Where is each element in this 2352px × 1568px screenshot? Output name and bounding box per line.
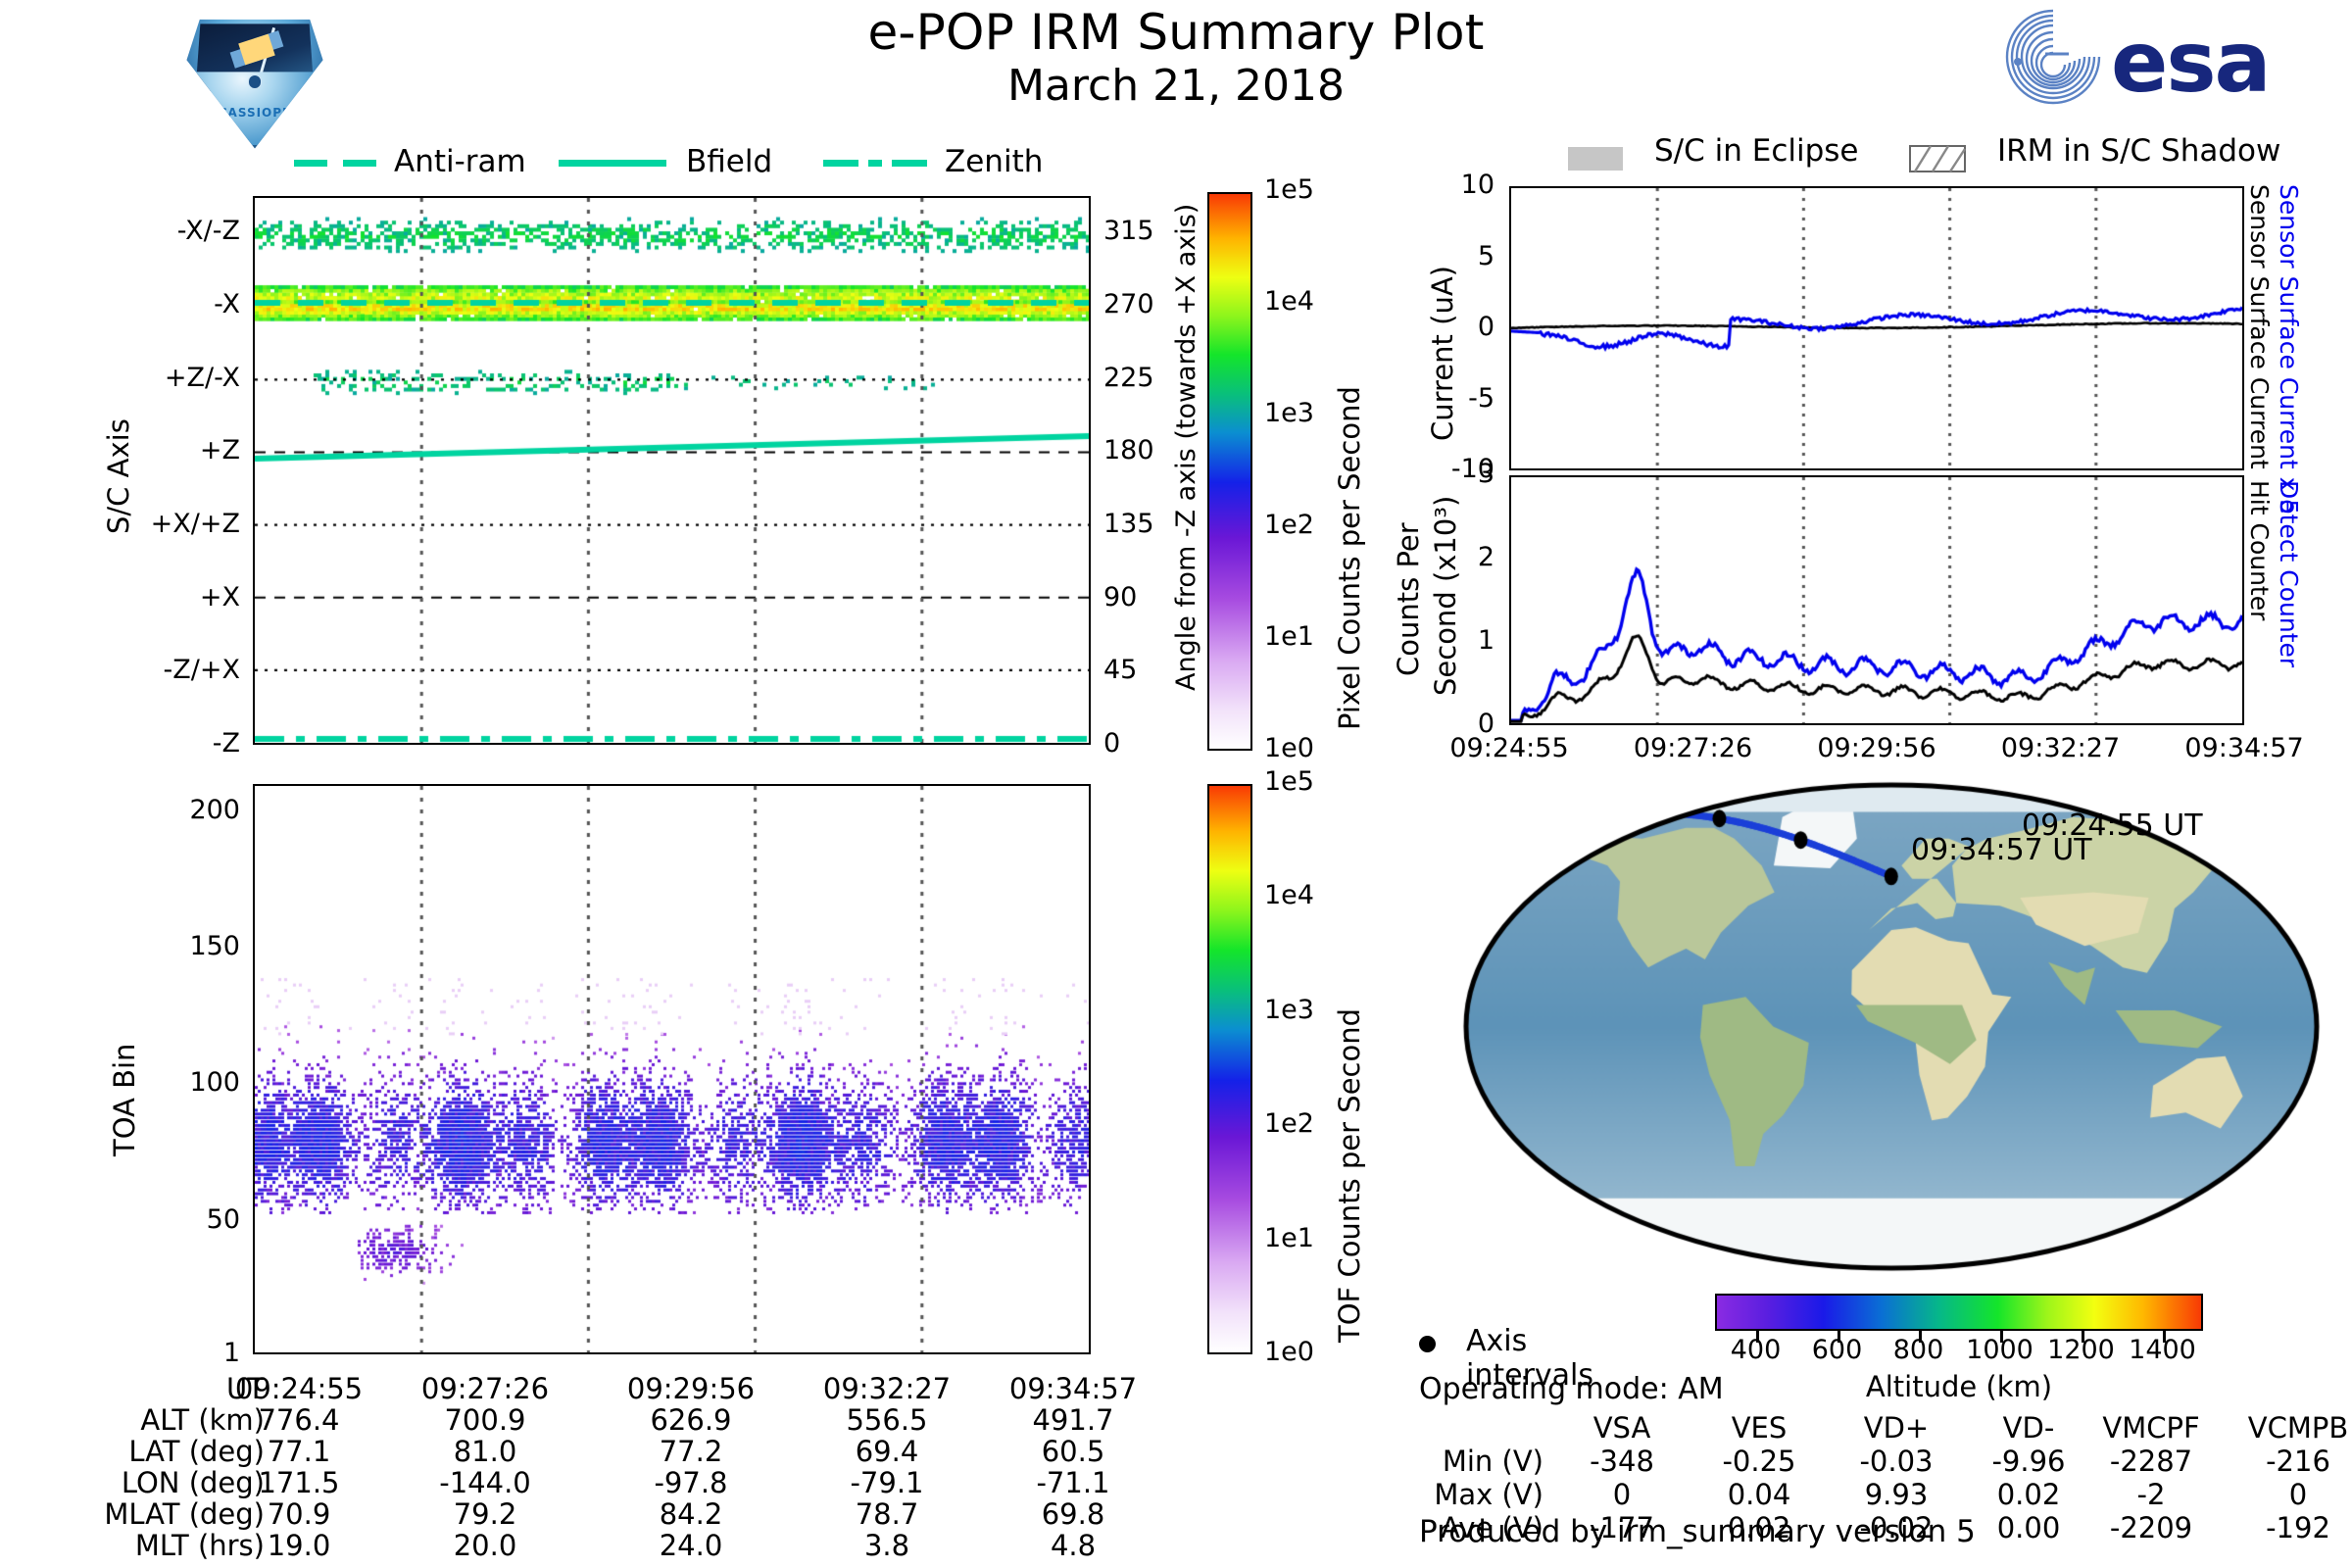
pixel-cbar-tick-5: 1e0 (1264, 733, 1314, 763)
alt-cbar-tickmark-0 (1756, 1331, 1759, 1343)
counts-ytick-0: 3 (1411, 459, 1494, 489)
angle-right-tick-5: 90 (1103, 582, 1182, 612)
counts-xtick-2: 09:29:56 (1788, 733, 1965, 763)
ephemeris-cell: 79.2 (382, 1497, 588, 1531)
legend-zenith-label: Zenith (945, 144, 1043, 179)
counts-right-label-black: Hit Counter (2245, 480, 2274, 620)
altitude-colorbar (1715, 1294, 2203, 1331)
operating-mode-label: Operating mode: AM (1419, 1372, 1724, 1406)
ephemeris-cell: 24.0 (588, 1529, 794, 1562)
legend-zenith-swatch (823, 160, 858, 167)
alt-cbar-tickmark-5 (2163, 1331, 2166, 1343)
ephemeris-cell: 70.9 (196, 1497, 402, 1531)
angle-ytick-2: +Z/-X (59, 363, 240, 393)
current-canvas (1511, 188, 2242, 468)
legend-zenith-swatch3 (892, 160, 927, 167)
page-title: e-POP IRM Summary Plot (0, 4, 2352, 61)
counts-xtick-0: 09:24:55 (1421, 733, 1597, 763)
pixel-counts-colorbar (1207, 192, 1252, 751)
voltage-cell: -2209 (2087, 1511, 2215, 1544)
voltage-cell: 0.02 (1965, 1478, 2092, 1511)
angle-right-tick-4: 135 (1103, 509, 1182, 539)
voltage-cell: -2287 (2087, 1445, 2215, 1478)
ephemeris-cell: 3.8 (784, 1529, 990, 1562)
voltage-cell: -216 (2234, 1445, 2352, 1478)
angle-right-tick-0: 315 (1103, 216, 1182, 246)
map-end-label: 09:34:57 UT (1911, 833, 2092, 867)
current-ytick-3: -5 (1392, 383, 1494, 414)
voltage-cell: -9.96 (1965, 1445, 2092, 1478)
counts-xtick-4: 09:34:57 (2156, 733, 2332, 763)
legend-antiram-label: Anti-ram (394, 144, 526, 179)
ephemeris-cell: 77.2 (588, 1435, 794, 1468)
legend-shadow-swatch (1909, 145, 1966, 172)
current-right-label-blue: Sensor Surface Current x 5 (2275, 184, 2303, 514)
tof-counts-colorbar-label: TOF Counts per Second (1333, 1008, 1366, 1343)
ephemeris-cell: -79.1 (784, 1466, 990, 1499)
legend-bfield-label: Bfield (686, 144, 772, 179)
ephemeris-cell: -97.8 (588, 1466, 794, 1499)
ephemeris-cell: 60.5 (970, 1435, 1176, 1468)
esa-logo: esa (2001, 8, 2327, 106)
pixel-cbar-tick-0: 1e5 (1264, 174, 1314, 205)
counts-panel-ylabel-line2: Second (x10³) (1429, 496, 1462, 696)
angle-ytick-1: -X (59, 289, 240, 319)
ephemeris-cell: 4.8 (970, 1529, 1176, 1562)
toa-ytick-4: 1 (98, 1338, 240, 1368)
current-ytick-2: 0 (1392, 312, 1494, 342)
counts-canvas (1511, 477, 2242, 723)
esa-swirl-icon (2001, 8, 2107, 106)
legend-shadow-label: IRM in S/C Shadow (1997, 133, 2280, 169)
angle-ytick-0: -X/-Z (59, 216, 240, 246)
ephemeris-cell: 20.0 (382, 1529, 588, 1562)
patch-label: CASSIOPE (184, 106, 325, 120)
legend-bfield-swatch (559, 160, 666, 167)
voltage-cell: -2 (2087, 1478, 2215, 1511)
alt-cbar-tickmark-1 (1837, 1331, 1840, 1343)
voltage-column-header: VCMPB (2234, 1411, 2352, 1445)
ephemeris-cell: 69.4 (784, 1435, 990, 1468)
alt-cbar-tickmark-3 (2000, 1331, 2003, 1343)
toa-spectrogram-canvas (255, 786, 1089, 1352)
voltage-cell: 0 (1558, 1478, 1686, 1511)
voltage-cell: 0.04 (1695, 1478, 1823, 1511)
angle-spectrogram-canvas (255, 198, 1089, 743)
voltage-column-header: VD+ (1833, 1411, 1960, 1445)
counts-xtick-3: 09:32:27 (1973, 733, 2149, 763)
altitude-colorbar-label: Altitude (km) (1715, 1370, 2203, 1403)
alt-cbar-tickmark-4 (2082, 1331, 2084, 1343)
voltage-cell: 0.00 (1965, 1511, 2092, 1544)
legend-zenith-swatch2 (868, 160, 882, 167)
current-panel-ylabel: Current (uA) (1426, 266, 1459, 441)
counts-xtick-1: 09:27:26 (1605, 733, 1782, 763)
angle-ytick-6: -Z/+X (59, 655, 240, 685)
current-plot[interactable] (1509, 186, 2244, 470)
ephemeris-cell: 09:32:27 (784, 1372, 990, 1405)
toa-ytick-0: 200 (98, 795, 240, 825)
angle-ytick-5: +X (59, 582, 240, 612)
ephemeris-cell: 09:34:57 (970, 1372, 1176, 1405)
footer-produced-by: Produced by irm_summary version 5 (1419, 1514, 1976, 1549)
page-subtitle: March 21, 2018 (0, 61, 2352, 111)
current-ytick-1: 5 (1392, 241, 1494, 271)
esa-wordmark: esa (2111, 14, 2270, 112)
voltage-cell: -348 (1558, 1445, 1686, 1478)
current-right-label-black: Sensor Surface Current (2245, 184, 2274, 469)
ephemeris-cell: 19.0 (196, 1529, 402, 1562)
toa-spectrogram-plot[interactable] (253, 784, 1091, 1354)
toa-ytick-1: 150 (98, 931, 240, 961)
ephemeris-cell: 776.4 (196, 1403, 402, 1437)
current-ytick-0: 10 (1392, 170, 1494, 200)
voltage-column-header: VES (1695, 1411, 1823, 1445)
counts-ytick-2: 1 (1411, 625, 1494, 656)
alt-cbar-tickmark-2 (1919, 1331, 1922, 1343)
voltage-row-label: Max (V) (1411, 1478, 1543, 1511)
tof-cbar-tick-2: 1e3 (1264, 995, 1314, 1025)
voltage-column-header: VD- (1965, 1411, 2092, 1445)
tof-cbar-tick-1: 1e4 (1264, 880, 1314, 910)
tof-cbar-tick-5: 1e0 (1264, 1337, 1314, 1367)
ephemeris-cell: 171.5 (196, 1466, 402, 1499)
ephemeris-cell: 69.8 (970, 1497, 1176, 1531)
voltage-cell: -0.25 (1695, 1445, 1823, 1478)
toa-ytick-2: 100 (98, 1067, 240, 1098)
legend-antiram-swatch2 (343, 160, 376, 167)
angle-ytick-3: +Z (59, 435, 240, 465)
counts-ytick-1: 2 (1411, 542, 1494, 572)
ephemeris-cell: 81.0 (382, 1435, 588, 1468)
ephemeris-cell: 556.5 (784, 1403, 990, 1437)
tof-cbar-tick-3: 1e2 (1264, 1108, 1314, 1139)
tof-cbar-tick-4: 1e1 (1264, 1223, 1314, 1253)
legend-eclipse-swatch (1568, 147, 1623, 171)
voltage-row-label: Min (V) (1411, 1445, 1543, 1478)
ephemeris-cell: 09:29:56 (588, 1372, 794, 1405)
angle-right-tick-1: 270 (1103, 289, 1182, 319)
ephemeris-cell: -71.1 (970, 1466, 1176, 1499)
voltage-cell: 9.93 (1833, 1478, 1960, 1511)
angle-right-tick-6: 45 (1103, 655, 1182, 685)
angle-spectrogram-plot[interactable] (253, 196, 1091, 745)
ephemeris-cell: 84.2 (588, 1497, 794, 1531)
ground-track-map[interactable]: 09:24:55 UT 09:34:57 UT (1460, 779, 2323, 1274)
cassiope-mission-patch-logo: CASSIOPE (182, 8, 327, 153)
ephemeris-cell: -144.0 (382, 1466, 588, 1499)
axis-interval-dot-icon (1419, 1336, 1436, 1352)
tof-counts-colorbar (1207, 784, 1252, 1354)
voltage-cell: -0.03 (1833, 1445, 1960, 1478)
ground-track-map-canvas (1460, 779, 2323, 1274)
ephemeris-cell: 700.9 (382, 1403, 588, 1437)
counts-right-label-blue: Detect Counter (2275, 480, 2303, 667)
angle-right-tick-7: 0 (1103, 728, 1182, 759)
legend-eclipse-label: S/C in Eclipse (1654, 133, 1859, 169)
pixel-cbar-tick-1: 1e4 (1264, 286, 1314, 317)
angle-right-tick-3: 180 (1103, 435, 1182, 465)
toa-panel-ylabel: TOA Bin (108, 1044, 141, 1156)
voltage-cell: 0 (2234, 1478, 2352, 1511)
pixel-counts-colorbar-label: Pixel Counts per Second (1333, 386, 1366, 730)
voltage-column-header: VMCPF (2087, 1411, 2215, 1445)
ephemeris-cell: 626.9 (588, 1403, 794, 1437)
ephemeris-cell: 77.1 (196, 1435, 402, 1468)
angle-right-tick-2: 225 (1103, 363, 1182, 393)
voltage-column-header: VSA (1558, 1411, 1686, 1445)
toa-ytick-3: 50 (98, 1204, 240, 1235)
ephemeris-cell: 09:24:55 (196, 1372, 402, 1405)
pixel-cbar-tick-4: 1e1 (1264, 621, 1314, 652)
pixel-cbar-tick-3: 1e2 (1264, 510, 1314, 540)
ephemeris-cell: 78.7 (784, 1497, 990, 1531)
legend-antiram-swatch (294, 160, 327, 167)
counts-plot[interactable] (1509, 475, 2244, 725)
ephemeris-cell: 491.7 (970, 1403, 1176, 1437)
angle-ytick-7: -Z (59, 728, 240, 759)
ephemeris-cell: 09:27:26 (382, 1372, 588, 1405)
tof-cbar-tick-0: 1e5 (1264, 766, 1314, 797)
pixel-cbar-tick-2: 1e3 (1264, 398, 1314, 428)
angle-ytick-4: +X/+Z (59, 509, 240, 539)
voltage-cell: -192 (2234, 1511, 2352, 1544)
